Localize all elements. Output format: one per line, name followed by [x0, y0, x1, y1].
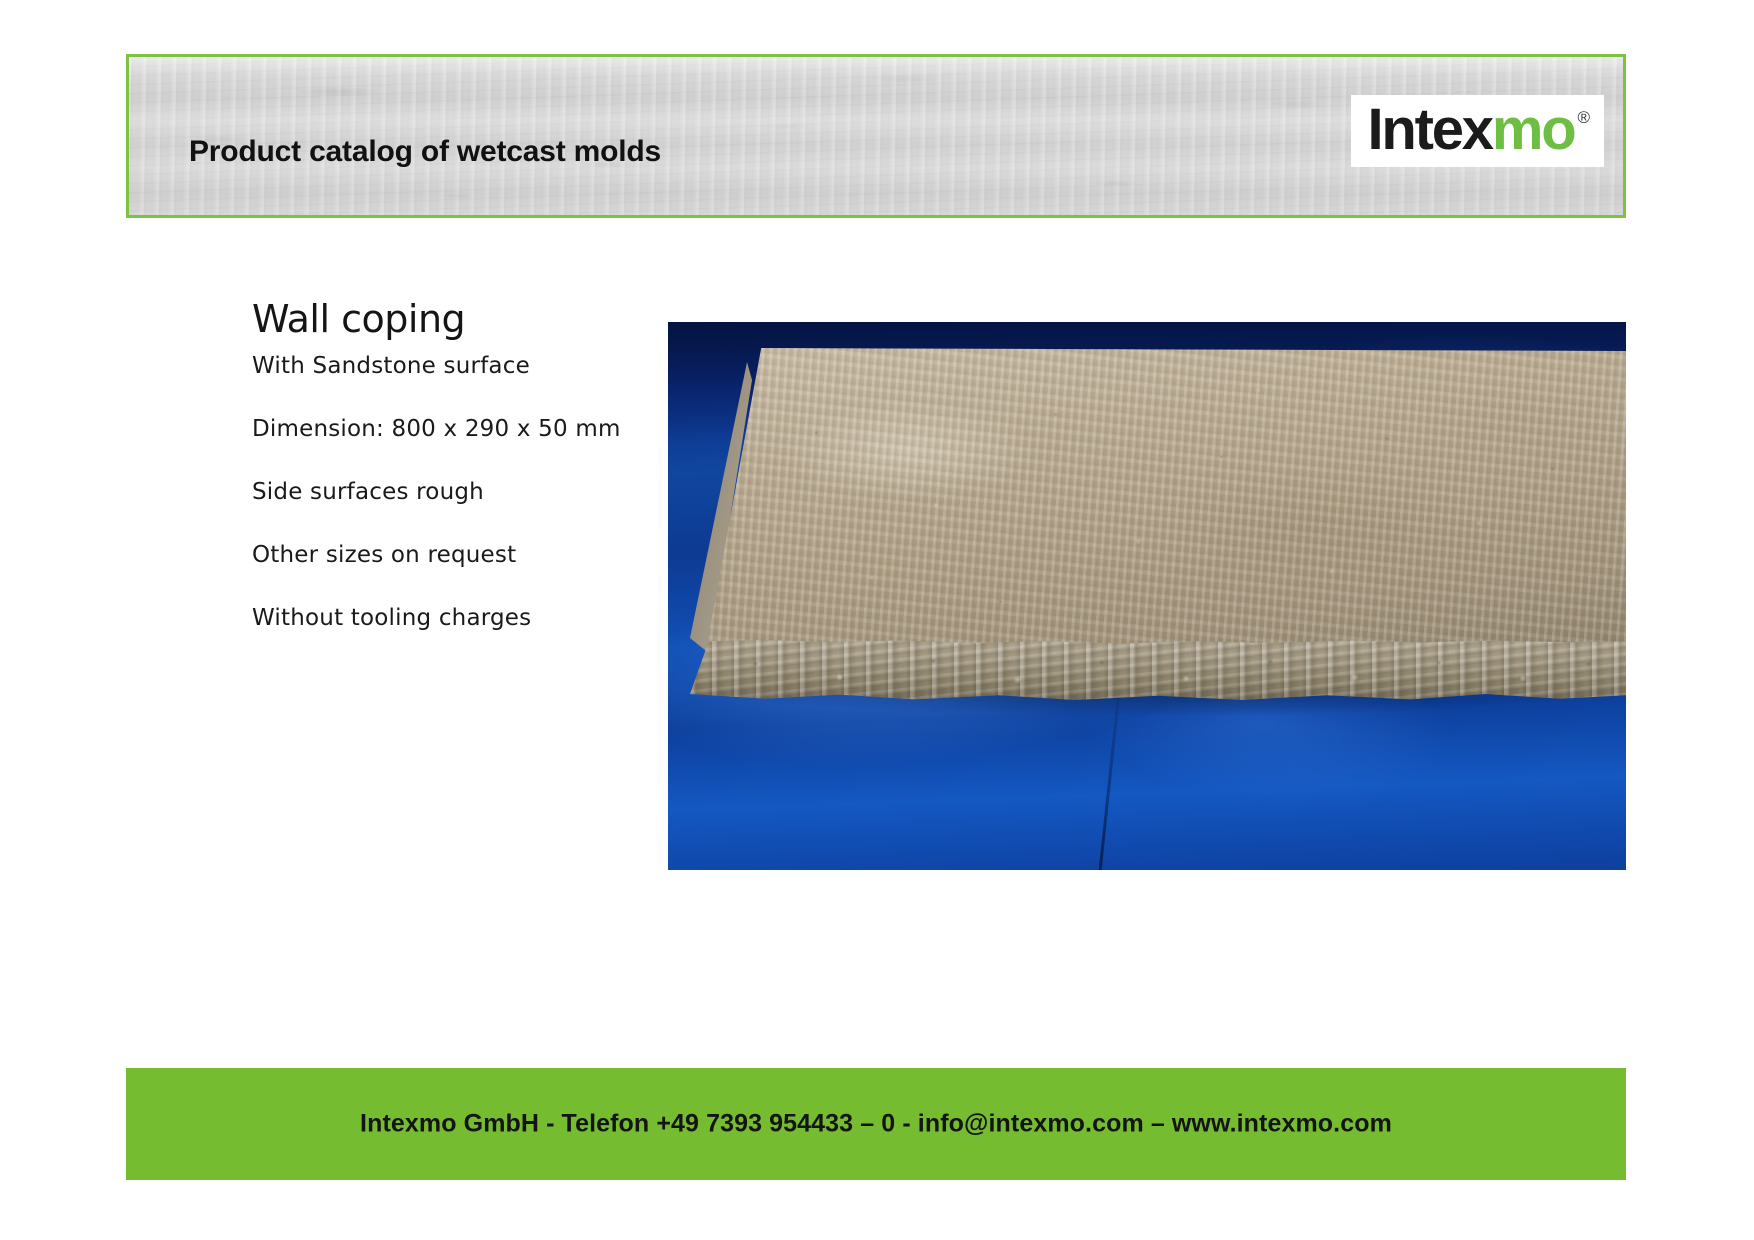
spec-item-sides: Side surfaces rough — [252, 481, 621, 504]
slab-top-surface — [706, 348, 1626, 650]
product-spec-list: With Sandstone surface Dimension: 800 x … — [252, 355, 621, 670]
logo-text-intex: Intex — [1367, 101, 1491, 159]
intexmo-logo: Intexmo® — [1351, 95, 1604, 167]
spec-item-sizes: Other sizes on request — [252, 544, 621, 567]
slab-surface-grain — [706, 348, 1626, 650]
header-banner: Product catalog of wetcast molds Intexmo… — [126, 54, 1626, 218]
logo-text-mo: mo — [1492, 101, 1575, 159]
footer-contact-text: Intexmo GmbH - Telefon +49 7393 954433 –… — [126, 1110, 1626, 1139]
registered-trademark-icon: ® — [1577, 108, 1590, 128]
product-title: Wall coping — [252, 297, 465, 341]
spec-item-tooling: Without tooling charges — [252, 607, 621, 630]
footer-bar: Intexmo GmbH - Telefon +49 7393 954433 –… — [126, 1068, 1626, 1180]
slab-edge-aggregate — [690, 640, 1626, 700]
spec-item-dimension: Dimension: 800 x 290 x 50 mm — [252, 418, 621, 441]
product-photo — [668, 322, 1626, 870]
spec-item-surface: With Sandstone surface — [252, 355, 621, 378]
page-title: Product catalog of wetcast molds — [189, 135, 661, 169]
